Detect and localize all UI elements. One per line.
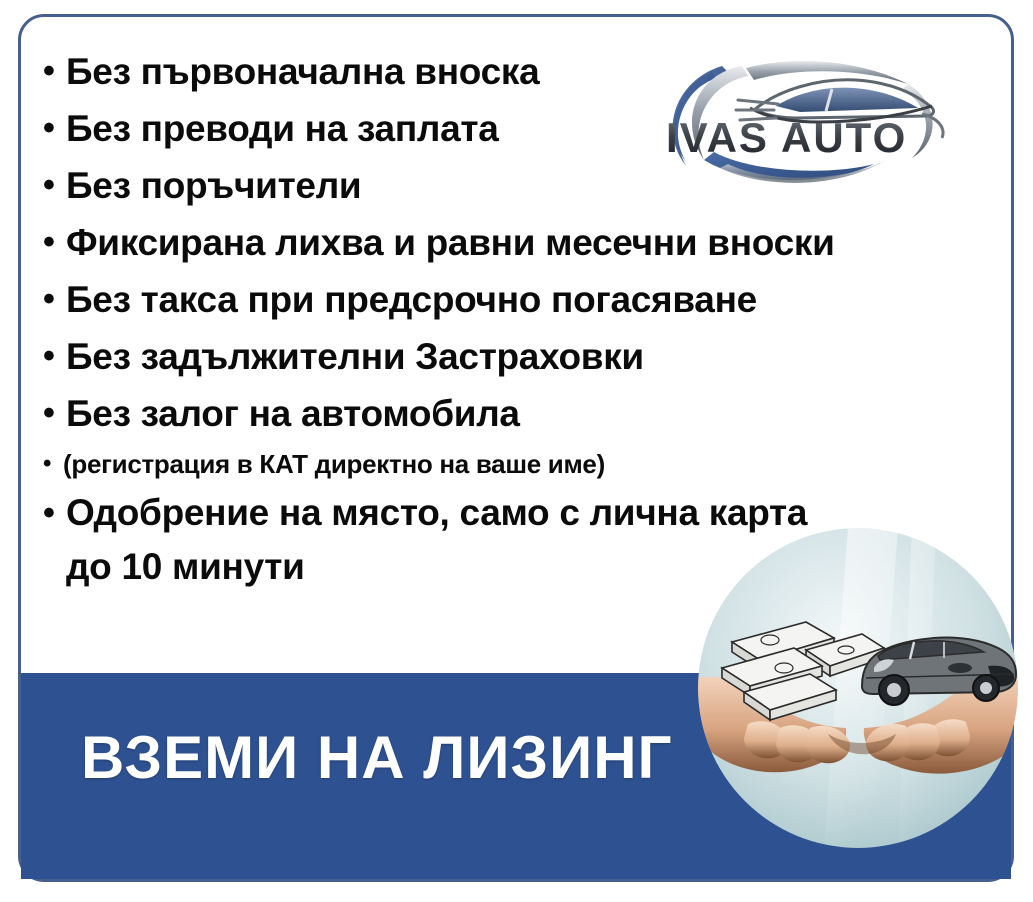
photo-graphic [698, 528, 1018, 848]
cta-banner-label: ВЗЕМИ НА ЛИЗИНГ [81, 723, 673, 793]
logo-graphic: IVAS AUTO [650, 48, 970, 188]
ivas-auto-logo: IVAS AUTO [650, 48, 970, 188]
list-item: Фиксирана лихва и равни месечни вноски [41, 214, 1001, 271]
hands-holding-money-and-car-photo [698, 528, 1018, 848]
logo-car-windows [776, 88, 918, 112]
list-item: Без залог на автомобила [41, 385, 1001, 442]
list-item: Без такса при предсрочно погасяване [41, 271, 1001, 328]
logo-wordmark: IVAS AUTO [666, 114, 907, 161]
list-item: Без задължителни Застраховки [41, 328, 1001, 385]
list-item-note: (регистрация в КАТ директно на ваше име) [41, 442, 1001, 486]
